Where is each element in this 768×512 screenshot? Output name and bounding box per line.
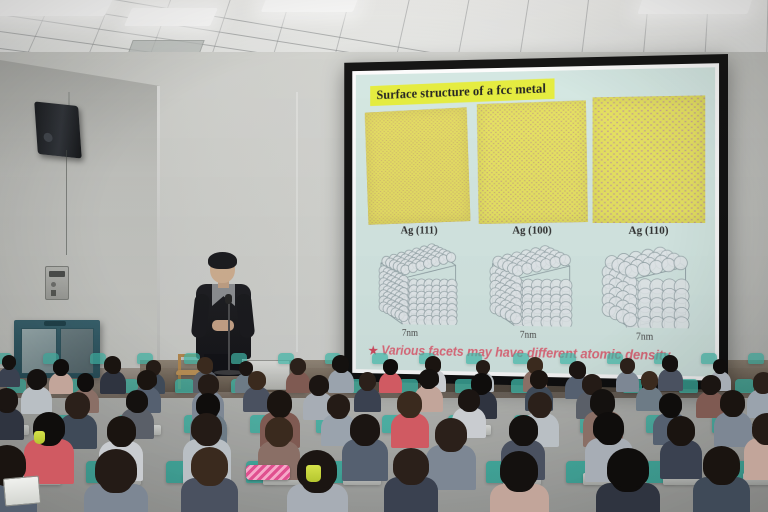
audience-member-hair bbox=[95, 449, 137, 488]
audience-member-hair bbox=[720, 390, 745, 414]
audience-member-hair bbox=[530, 370, 548, 387]
audience-member bbox=[384, 450, 438, 512]
audience-member-hair bbox=[500, 451, 538, 487]
ceiling-light-panel bbox=[0, 0, 115, 16]
audience-member bbox=[391, 393, 429, 453]
stm-image-3 bbox=[593, 95, 706, 223]
audience-member-hair bbox=[383, 359, 398, 373]
ceiling-light-panel bbox=[637, 0, 752, 14]
wall-speaker bbox=[34, 101, 82, 158]
audience-member-hair bbox=[126, 390, 148, 411]
stm-image-row bbox=[367, 95, 706, 223]
panel-caption: Ag (111) bbox=[367, 225, 473, 237]
scale-label: 7nm bbox=[358, 327, 463, 339]
laptop[interactable] bbox=[3, 475, 41, 506]
presenter-hair bbox=[208, 252, 237, 269]
panel-knob-icon[interactable] bbox=[51, 282, 56, 287]
green-water-bottle[interactable] bbox=[306, 465, 321, 482]
audience-member-hair bbox=[476, 360, 490, 373]
audience-member-hair bbox=[359, 372, 376, 389]
audience-member-hair bbox=[191, 413, 222, 442]
audience-member-hair bbox=[290, 358, 306, 373]
audience-member bbox=[287, 453, 348, 512]
crystal-model-3 bbox=[593, 241, 694, 334]
panel-caption-row: Ag (111) Ag (100) Ag (110) bbox=[367, 225, 706, 241]
presenter-hands bbox=[212, 320, 234, 331]
audience-member-hair bbox=[267, 390, 292, 415]
audience-member bbox=[49, 360, 73, 398]
presentation-slide: Surface structure of a fcc metal Ag (111… bbox=[356, 67, 715, 376]
speaker-cable bbox=[66, 150, 67, 255]
panel-display bbox=[49, 271, 65, 277]
audience-member-hair bbox=[53, 359, 69, 374]
ceiling-light-panel bbox=[261, 0, 359, 12]
audience-member bbox=[21, 370, 52, 418]
audience-member-hair bbox=[590, 389, 615, 414]
audience-member-hair bbox=[65, 392, 90, 416]
audience-member-hair bbox=[2, 355, 16, 368]
audience-member-hair bbox=[659, 393, 682, 415]
wall-control-panel[interactable] bbox=[45, 266, 69, 300]
audience-member-torso bbox=[391, 413, 429, 448]
audience-area bbox=[0, 355, 768, 512]
microphone-icon bbox=[225, 294, 232, 304]
audience-member-hair bbox=[191, 447, 228, 482]
audience-member bbox=[0, 390, 24, 445]
audience-member-hair bbox=[701, 375, 721, 393]
audience-member-hair bbox=[332, 355, 349, 371]
audience-member-hair bbox=[703, 446, 740, 481]
cabinet-top-slot bbox=[44, 321, 66, 326]
audience-member-hair bbox=[753, 372, 768, 392]
green-water-bottle[interactable] bbox=[34, 431, 45, 444]
audience-member-hair bbox=[641, 371, 658, 388]
audience-member-hair bbox=[528, 392, 552, 415]
audience-member-hair bbox=[0, 388, 18, 410]
audience-member-torso bbox=[21, 386, 52, 414]
audience-member-hair bbox=[197, 357, 213, 372]
audience-member-hair bbox=[198, 374, 219, 394]
crystal-model-2 bbox=[480, 240, 578, 331]
audience-member bbox=[84, 452, 148, 512]
audience-member bbox=[0, 356, 20, 390]
panel-caption: Ag (110) bbox=[593, 225, 706, 237]
audience-member-hair bbox=[713, 359, 727, 372]
pink-pencil-case[interactable] bbox=[246, 465, 290, 480]
audience-member-hair bbox=[752, 413, 768, 442]
audience-member-hair bbox=[137, 370, 157, 388]
audience-member bbox=[181, 449, 238, 512]
audience-member-torso bbox=[379, 372, 402, 393]
audience-member-hair bbox=[107, 416, 136, 444]
audience-member-hair bbox=[393, 448, 429, 481]
audience-member-hair bbox=[27, 369, 47, 388]
audience-member bbox=[354, 373, 381, 416]
audience-member-torso bbox=[0, 367, 20, 387]
projection-screen: Surface structure of a fcc metal Ag (111… bbox=[352, 63, 719, 381]
audience-member-hair bbox=[327, 394, 350, 416]
ceiling-light-panel bbox=[124, 8, 218, 26]
audience-member-hair bbox=[77, 373, 94, 390]
lecture-hall-photo: Surface structure of a fcc metal Ag (111… bbox=[0, 0, 768, 512]
projection-screen-frame: Surface structure of a fcc metal Ag (111… bbox=[344, 54, 728, 390]
audience-member-hair bbox=[607, 448, 649, 487]
audience-member-hair bbox=[458, 389, 480, 410]
scale-label: 7nm bbox=[589, 331, 702, 344]
audience-member bbox=[490, 454, 549, 512]
panel-caption: Ag (100) bbox=[478, 225, 587, 237]
audience-member-hair bbox=[0, 445, 26, 481]
wall-seam bbox=[296, 92, 298, 352]
audience-member-hair bbox=[309, 375, 329, 394]
audience-member-hair bbox=[419, 369, 439, 387]
audience-member-hair bbox=[104, 356, 121, 372]
scale-label: 7nm bbox=[474, 329, 583, 341]
audience-member-hair bbox=[593, 412, 624, 441]
audience-member bbox=[596, 451, 660, 512]
audience-member bbox=[693, 448, 750, 512]
presenter-arm-right bbox=[236, 293, 256, 338]
crystal-model-row bbox=[367, 240, 706, 333]
audience-member bbox=[342, 416, 388, 488]
audience-member bbox=[379, 360, 402, 396]
crystal-model-1 bbox=[368, 240, 463, 330]
stm-image-2 bbox=[477, 100, 588, 224]
audience-member-hair bbox=[435, 418, 467, 448]
stm-image-1 bbox=[365, 107, 471, 224]
audience-member-hair bbox=[509, 415, 538, 443]
audience-member-hair bbox=[662, 355, 678, 370]
audience-member-hair bbox=[265, 417, 293, 444]
audience-member-hair bbox=[397, 391, 422, 415]
lecture-seat[interactable] bbox=[748, 353, 764, 364]
audience-member-hair bbox=[620, 358, 635, 372]
panel-switch-icon[interactable] bbox=[51, 290, 56, 296]
wall-seam bbox=[157, 86, 160, 366]
audience-member-hair bbox=[667, 416, 695, 443]
audience-member-hair bbox=[248, 371, 266, 388]
audience-member-hair bbox=[350, 414, 380, 443]
